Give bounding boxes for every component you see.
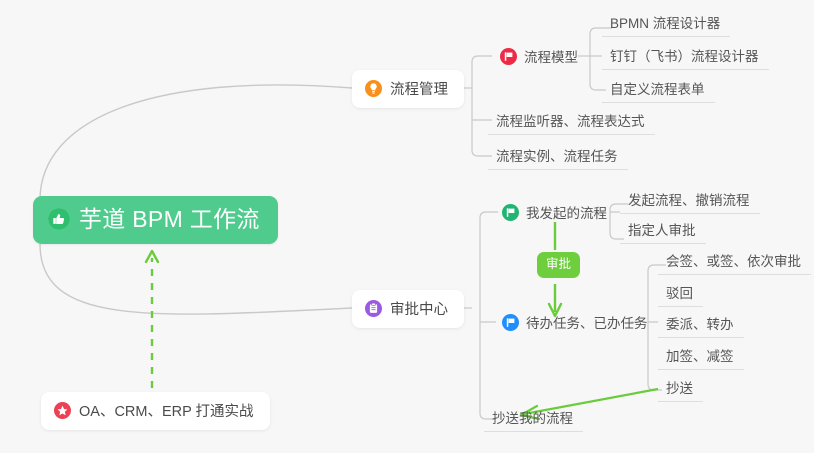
leaf-process-listener[interactable]: 流程监听器、流程表达式 — [488, 108, 655, 135]
leaf-reject-label: 驳回 — [666, 282, 693, 302]
leaf-countersign[interactable]: 会签、或签、依次审批 — [658, 248, 811, 275]
node-integration-practice[interactable]: OA、CRM、ERP 打通实战 — [41, 392, 270, 430]
leaf-bpmn-designer-label: BPMN 流程设计器 — [610, 12, 720, 32]
link-pm-bracket — [472, 56, 492, 156]
leaf-assigned-approver[interactable]: 指定人审批 — [620, 217, 706, 244]
node-todo-done-tasks[interactable]: 待办任务、已办任务 — [494, 310, 658, 337]
node-process-model[interactable]: 流程模型 — [492, 44, 588, 71]
thumbs-up-icon — [48, 208, 70, 230]
badge-approval[interactable]: 审批 — [537, 252, 580, 278]
leaf-assigned-approver-label: 指定人审批 — [628, 219, 696, 239]
node-approval-center-label: 审批中心 — [390, 298, 448, 319]
link-root-to-approval-center — [40, 244, 352, 314]
leaf-dingtalk-designer-label: 钉钉（飞书）流程设计器 — [610, 45, 759, 65]
leaf-bpmn-designer[interactable]: BPMN 流程设计器 — [602, 10, 730, 37]
star-icon — [54, 402, 71, 419]
node-process-management[interactable]: 流程管理 — [352, 70, 464, 108]
node-todo-done-tasks-label: 待办任务、已办任务 — [526, 312, 648, 332]
mindmap-canvas: 芋道 BPM 工作流 流程管理 流程模型 BPMN 流程设计器 钉钉（飞书）流程… — [0, 0, 814, 453]
lightbulb-icon — [365, 80, 382, 97]
leaf-custom-form[interactable]: 自定义流程表单 — [602, 76, 715, 103]
arrow-footer-head — [146, 251, 158, 262]
node-my-initiated-processes-label: 我发起的流程 — [526, 202, 607, 222]
root-node[interactable]: 芋道 BPM 工作流 — [33, 196, 278, 244]
clipboard-icon — [365, 300, 382, 317]
flag-icon — [502, 204, 519, 221]
leaf-add-remove-sign-label: 加签、减签 — [666, 345, 734, 365]
node-approval-center[interactable]: 审批中心 — [352, 290, 464, 328]
leaf-cc[interactable]: 抄送 — [658, 375, 703, 402]
leaf-countersign-label: 会签、或签、依次审批 — [666, 250, 801, 270]
leaf-cc-label: 抄送 — [666, 377, 693, 397]
leaf-process-listener-label: 流程监听器、流程表达式 — [496, 110, 645, 130]
flag-icon — [500, 48, 517, 65]
root-label: 芋道 BPM 工作流 — [79, 206, 260, 232]
node-integration-practice-label: OA、CRM、ERP 打通实战 — [79, 400, 254, 421]
node-process-management-label: 流程管理 — [390, 78, 448, 99]
leaf-reject[interactable]: 驳回 — [658, 280, 703, 307]
leaf-start-cancel-process-label: 发起流程、撤销流程 — [628, 189, 750, 209]
leaf-delegate-transfer-label: 委派、转办 — [666, 313, 734, 333]
link-root-to-process-management — [40, 85, 352, 200]
node-my-initiated-processes[interactable]: 我发起的流程 — [494, 200, 617, 227]
leaf-cc-to-me-label: 抄送我的流程 — [492, 407, 573, 427]
leaf-delegate-transfer[interactable]: 委派、转办 — [658, 311, 744, 338]
node-process-model-label: 流程模型 — [524, 46, 578, 66]
leaf-process-instance-label: 流程实例、流程任务 — [496, 145, 618, 165]
leaf-dingtalk-designer[interactable]: 钉钉（飞书）流程设计器 — [602, 43, 769, 70]
leaf-cc-to-me[interactable]: 抄送我的流程 — [484, 405, 583, 432]
leaf-process-instance[interactable]: 流程实例、流程任务 — [488, 143, 628, 170]
flag-icon — [502, 314, 519, 331]
leaf-custom-form-label: 自定义流程表单 — [610, 78, 705, 98]
leaf-add-remove-sign[interactable]: 加签、减签 — [658, 343, 744, 370]
leaf-start-cancel-process[interactable]: 发起流程、撤销流程 — [620, 187, 760, 214]
